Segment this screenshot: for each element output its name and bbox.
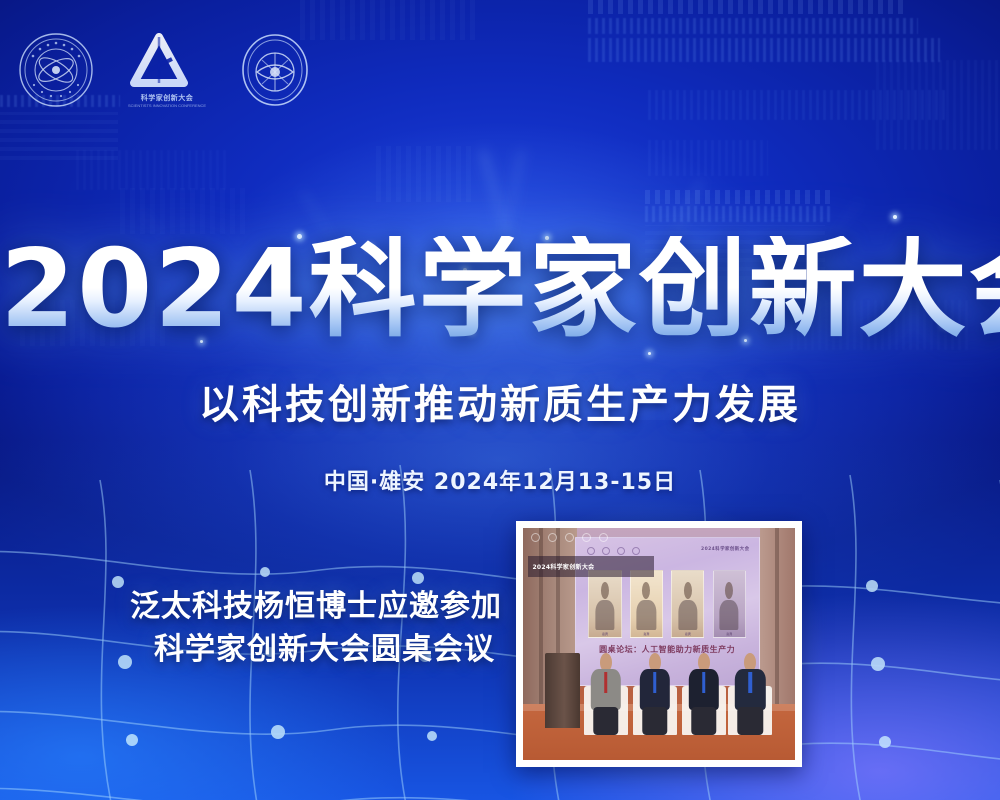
page-title: 2024科学家创新大会 xyxy=(0,236,1000,344)
photo-portrait: 嘉宾 xyxy=(713,570,746,637)
conference-location-date: 中国·雄安 2024年12月13-15日 xyxy=(0,472,1000,494)
photo-speaker-portraits: 嘉宾 嘉宾 嘉宾 嘉宾 xyxy=(588,570,745,637)
photo-panelist xyxy=(732,653,767,732)
screen-logo-icon xyxy=(632,547,640,555)
screen-logo-icon xyxy=(602,547,610,555)
photo-wall-column xyxy=(539,528,543,704)
hall-logo-icon xyxy=(548,533,557,542)
photo-hall-logo-row xyxy=(531,533,608,542)
hall-logo-icon xyxy=(565,533,574,542)
screen-logo-icon xyxy=(587,547,595,555)
news-caption-line-2: 科学家创新大会圆桌会议 xyxy=(154,629,502,672)
hall-logo-icon xyxy=(599,533,608,542)
photo-panelist xyxy=(588,653,623,732)
china-association-for-science-and-technology-seal-logo xyxy=(18,32,94,108)
photo-portrait: 嘉宾 xyxy=(630,570,663,637)
news-caption-line-1: 泛太科技杨恒博士应邀参加 xyxy=(130,589,502,624)
conference-poster: 科学家创新大会 SCIENTISTS INNOVATION CONFERENCE… xyxy=(0,0,1000,800)
photo-podium xyxy=(545,653,580,727)
conference-slogan: 以科技创新推动新质生产力发展 xyxy=(0,385,1000,425)
news-caption: 泛太科技杨恒博士应邀参加 科学家创新大会圆桌会议 xyxy=(130,586,502,671)
academic-institute-oval-seal-logo xyxy=(240,32,310,108)
photo-portrait: 嘉宾 xyxy=(588,570,621,637)
photo-portrait: 嘉宾 xyxy=(671,570,704,637)
organizer-logo-bar: 科学家创新大会 SCIENTISTS INNOVATION CONFERENCE xyxy=(18,32,310,108)
photo-event-banner: 2024科学家创新大会 xyxy=(528,556,653,577)
scientists-innovation-conference-triangle-logo: 科学家创新大会 SCIENTISTS INNOVATION CONFERENCE xyxy=(128,33,206,108)
photo-screen-logo-row xyxy=(587,547,640,555)
hall-logo-icon xyxy=(582,533,591,542)
photo-panelist xyxy=(686,653,721,732)
screen-logo-icon xyxy=(617,547,625,555)
roundtable-panel-photo: 2024科学家创新大会 嘉宾 嘉宾 嘉宾 xyxy=(516,521,802,767)
hall-logo-icon xyxy=(531,533,540,542)
triangle-logo-caption: 科学家创新大会 SCIENTISTS INNOVATION CONFERENCE xyxy=(128,93,206,108)
photo-screen-title: 2024科学家创新大会 xyxy=(701,546,749,552)
photo-content: 2024科学家创新大会 嘉宾 嘉宾 嘉宾 xyxy=(523,528,795,760)
photo-panelist xyxy=(637,653,672,732)
photo-wall-column xyxy=(775,528,779,704)
